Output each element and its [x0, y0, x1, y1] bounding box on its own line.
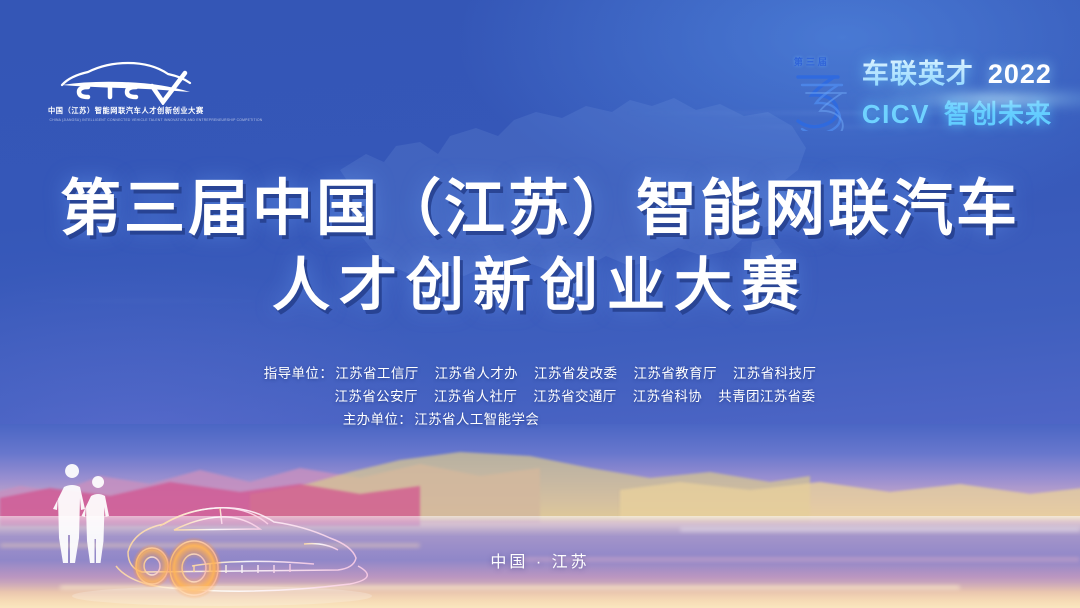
organizer-item: 共青团江苏省委	[718, 389, 815, 404]
organizer-row-guidance-1: 指导单位：江苏省工信厅江苏省人才办江苏省发改委江苏省教育厅江苏省科技厅	[0, 362, 1080, 385]
slogan-row-1: 车联英才 2022	[862, 52, 1052, 91]
stylized-three-icon	[788, 61, 852, 131]
organizer-row-guidance-2: 江苏省公安厅江苏省人社厅江苏省交通厅江苏省科协共青团江苏省委	[0, 385, 1080, 408]
cicv-car-logo-icon	[48, 55, 203, 105]
organizer-item: 江苏省人社厅	[434, 389, 517, 404]
footer-location: 中国 · 江苏	[0, 548, 1080, 572]
organizers-block: 指导单位：江苏省工信厅江苏省人才办江苏省发改委江苏省教育厅江苏省科技厅 江苏省公…	[0, 362, 1080, 431]
organizer-item: 江苏省教育厅	[633, 366, 716, 381]
organizer-item: 江苏省科协	[633, 389, 703, 404]
slogan-block: 第三届 车联英才 2022	[788, 52, 1052, 131]
organizer-item: 江苏省公安厅	[334, 389, 417, 404]
cicv-logo-subtitle-en: CHINA (JIANGSU) INTELLIGENT CONNECTED VE…	[50, 118, 202, 122]
cicv-logo-subtitle-cn: 中国（江苏）智能网联汽车人才创新创业大赛	[48, 106, 203, 116]
title-line-2: 人才创新创业大赛	[0, 257, 1080, 315]
title-line-1: 第三届中国（江苏）智能网联汽车	[0, 178, 1080, 239]
host-label: 主办单位：	[343, 412, 413, 427]
slogan-line1-cn: 车联英才	[862, 52, 974, 91]
poster-canvas: 中国（江苏）智能网联汽车人才创新创业大赛 CHINA (JIANGSU) INT…	[0, 0, 1080, 608]
slogan-line2-en: CICV	[862, 99, 930, 130]
organizer-item: 江苏省人才办	[435, 366, 518, 381]
organizer-item: 江苏省交通厅	[533, 389, 616, 404]
organizer-item: 江苏省科技厅	[733, 366, 816, 381]
cicv-logo[interactable]: 中国（江苏）智能网联汽车人才创新创业大赛 CHINA (JIANGSU) INT…	[48, 55, 203, 127]
slogan-line2-cn: 智创未来	[944, 94, 1052, 131]
third-edition-mark: 第三届	[788, 53, 852, 131]
guidance-label: 指导单位：	[264, 366, 334, 381]
organizer-item: 江苏省工信厅	[335, 366, 418, 381]
sunset-landscape	[0, 424, 1080, 608]
page-title: 第三届中国（江苏）智能网联汽车 人才创新创业大赛	[0, 178, 1080, 315]
organizer-row-host: 主办单位：江苏省人工智能学会	[0, 408, 1080, 431]
slogan-year: 2022	[988, 59, 1052, 90]
organizer-item: 江苏省发改委	[534, 366, 617, 381]
organizer-item: 江苏省人工智能学会	[414, 412, 539, 427]
slogan-row-2: CICV 智创未来	[862, 94, 1052, 131]
